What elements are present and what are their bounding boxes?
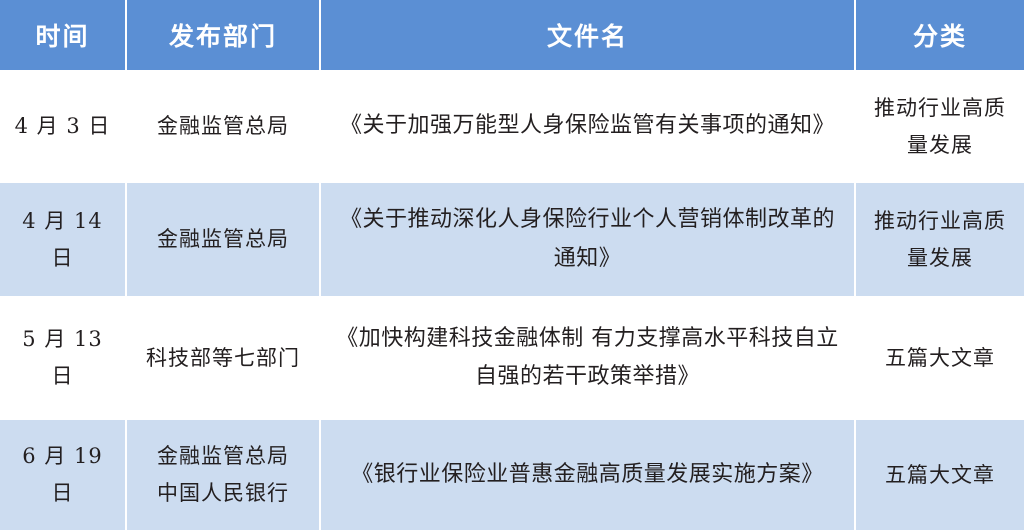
department-line-1: 金融监管总局 <box>135 438 311 475</box>
department-line-1: 科技部等七部门 <box>135 340 311 377</box>
column-header-department: 发布部门 <box>126 0 320 70</box>
department-line-1: 金融监管总局 <box>135 108 311 145</box>
cell-filename: 《关于推动深化人身保险行业个人营销体制改革的通知》 <box>320 183 855 296</box>
table-row: 5 月 13 日 科技部等七部门 《加快构建科技金融体制 有力支撑高水平科技自立… <box>0 296 1024 420</box>
column-header-category: 分类 <box>855 0 1024 70</box>
cell-department: 金融监管总局 中国人民银行 <box>126 420 320 530</box>
cell-filename: 《加快构建科技金融体制 有力支撑高水平科技自立自强的若干政策举措》 <box>320 296 855 420</box>
cell-time: 4 月 14 日 <box>0 183 126 296</box>
department-line-2: 中国人民银行 <box>135 475 311 512</box>
table-body: 4 月 3 日 金融监管总局 《关于加强万能型人身保险监管有关事项的通知》 推动… <box>0 70 1024 530</box>
cell-filename: 《银行业保险业普惠金融高质量发展实施方案》 <box>320 420 855 530</box>
table-header: 时间 发布部门 文件名 分类 <box>0 0 1024 70</box>
cell-time: 4 月 3 日 <box>0 70 126 183</box>
column-header-filename: 文件名 <box>320 0 855 70</box>
table-header-row: 时间 发布部门 文件名 分类 <box>0 0 1024 70</box>
cell-category: 推动行业高质量发展 <box>855 70 1024 183</box>
table-row: 4 月 3 日 金融监管总局 《关于加强万能型人身保险监管有关事项的通知》 推动… <box>0 70 1024 183</box>
table-row: 6 月 19 日 金融监管总局 中国人民银行 《银行业保险业普惠金融高质量发展实… <box>0 420 1024 530</box>
cell-department: 金融监管总局 <box>126 183 320 296</box>
cell-time: 6 月 19 日 <box>0 420 126 530</box>
cell-time: 5 月 13 日 <box>0 296 126 420</box>
table-row: 4 月 14 日 金融监管总局 《关于推动深化人身保险行业个人营销体制改革的通知… <box>0 183 1024 296</box>
cell-category: 五篇大文章 <box>855 420 1024 530</box>
cell-category: 五篇大文章 <box>855 296 1024 420</box>
cell-filename: 《关于加强万能型人身保险监管有关事项的通知》 <box>320 70 855 183</box>
policy-documents-table: 时间 发布部门 文件名 分类 4 月 3 日 金融监管总局 《关于加强万能型人身… <box>0 0 1024 530</box>
column-header-time: 时间 <box>0 0 126 70</box>
cell-department: 金融监管总局 <box>126 70 320 183</box>
cell-category: 推动行业高质量发展 <box>855 183 1024 296</box>
department-line-1: 金融监管总局 <box>135 221 311 258</box>
cell-department: 科技部等七部门 <box>126 296 320 420</box>
